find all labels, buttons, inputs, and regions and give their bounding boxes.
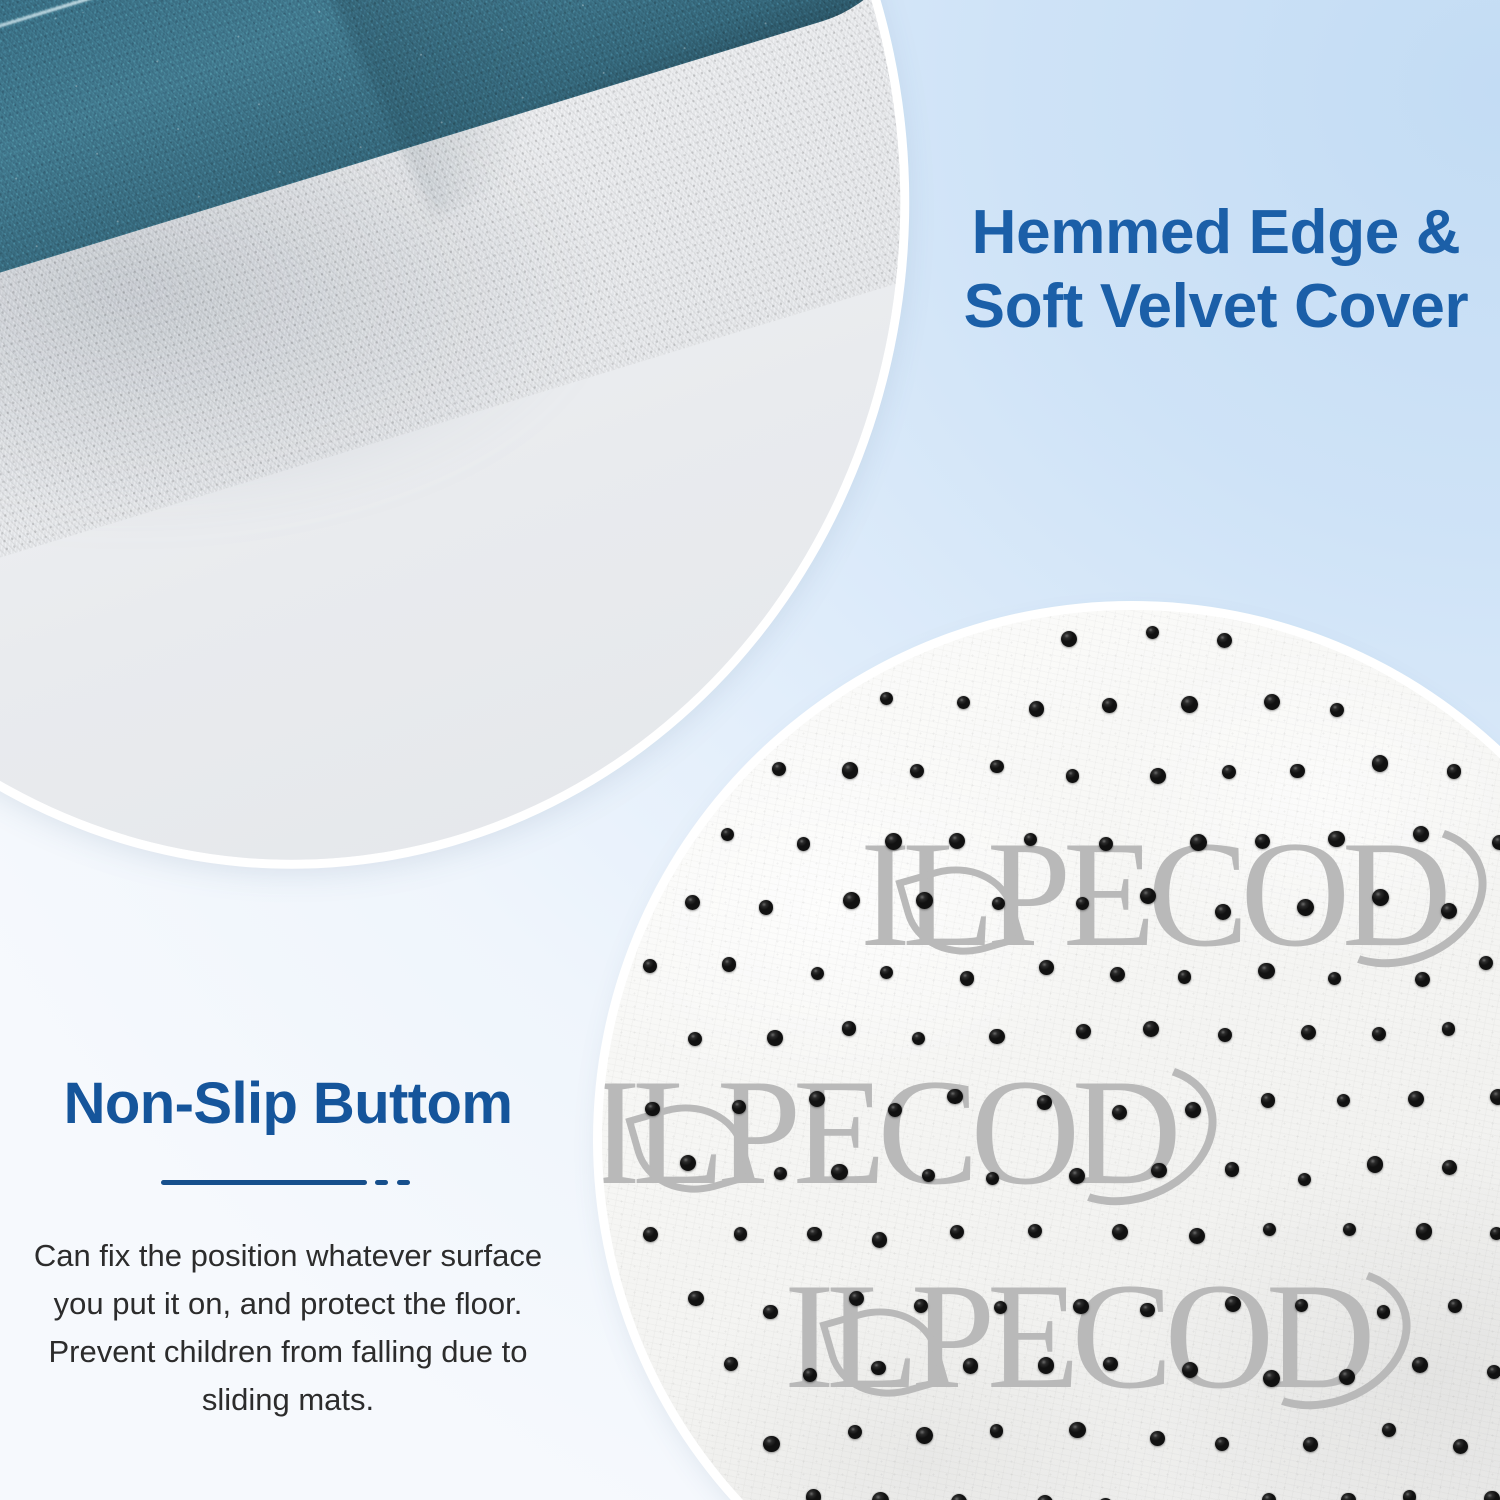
grip-dot: [1403, 1490, 1417, 1500]
grip-dot: [848, 1425, 862, 1439]
grip-dot: [763, 1305, 777, 1319]
grip-dot: [947, 1089, 962, 1104]
grip-dot: [1490, 1089, 1500, 1106]
grip-dot: [1140, 1303, 1155, 1318]
grip-dot: [1181, 696, 1198, 713]
grip-dot: [986, 1172, 999, 1185]
grip-dot: [992, 897, 1005, 910]
divider-bar: [161, 1180, 367, 1185]
grip-dot: [806, 1489, 822, 1500]
grip-dot: [831, 1164, 847, 1180]
grip-dot: [1217, 633, 1232, 648]
grip-dot: [1110, 967, 1125, 982]
grip-dot: [950, 1225, 964, 1239]
grip-dot: [951, 1494, 967, 1500]
grip-dot: [1413, 826, 1429, 842]
feature-block-non-slip: Non-Slip Buttom Can fix the position wha…: [8, 1072, 568, 1424]
grip-dot: [643, 1227, 658, 1242]
grip-dot: [1255, 834, 1271, 850]
grip-dot: [916, 892, 933, 909]
grip-dot: [1264, 694, 1280, 710]
grip-dot: [989, 1029, 1004, 1044]
grip-dot: [1415, 972, 1430, 987]
grip-dot: [1102, 698, 1117, 713]
grip-dot: [1061, 631, 1077, 647]
grip-dot: [1190, 834, 1207, 851]
grip-dot: [1487, 1365, 1500, 1379]
grip-dot: [872, 1232, 888, 1248]
heading-divider: [161, 1178, 415, 1186]
grip-dot: [1490, 1227, 1500, 1241]
grip-dot: [994, 1301, 1007, 1314]
grip-dot: [1039, 960, 1054, 975]
grip-dot: [1341, 1493, 1356, 1500]
grip-dot: [1263, 1370, 1280, 1387]
grip-dot: [1442, 1022, 1456, 1036]
grip-dot: [1416, 1223, 1433, 1240]
grip-dot: [1382, 1423, 1396, 1437]
grip-dot: [1290, 764, 1305, 779]
grip-dot: [916, 1427, 933, 1444]
grip-dot: [843, 892, 860, 909]
grip-dot: [990, 760, 1004, 774]
grip-dot: [721, 828, 734, 841]
grip-dot: [1261, 1093, 1276, 1108]
grip-dot: [1263, 1223, 1276, 1236]
grip-dot: [1150, 1431, 1165, 1446]
grip-dot: [1215, 1437, 1229, 1451]
grip-dot: [871, 1361, 885, 1375]
grip-dot: [1189, 1228, 1205, 1244]
grip-dot: [645, 1102, 659, 1116]
grip-dot: [1103, 1357, 1118, 1372]
grip-dot: [767, 1030, 783, 1046]
feature-heading-non-slip: Non-Slip Buttom: [8, 1072, 568, 1136]
grip-dot: [1076, 1024, 1091, 1039]
heading-line-1: Hemmed Edge &: [972, 198, 1461, 267]
grip-dot: [880, 692, 894, 706]
grip-dot: [734, 1227, 748, 1241]
grip-dot: [759, 900, 774, 915]
grip-dot: [1258, 963, 1275, 980]
grip-dot: [1112, 1105, 1127, 1120]
grip-dot: [1372, 755, 1389, 772]
grip-dot: [1484, 1491, 1500, 1500]
grip-dot: [842, 1021, 857, 1036]
grip-dot: [1037, 1095, 1052, 1110]
grip-dot: [1372, 1027, 1386, 1041]
grip-dot: [914, 1299, 928, 1313]
feature-heading-hemmed-edge: Hemmed Edge & Soft Velvet Cover: [946, 196, 1486, 345]
grip-dot: [1295, 1299, 1308, 1312]
grip-dot: [1442, 1160, 1457, 1175]
grip-dot: [1367, 1156, 1383, 1172]
grip-dot: [1343, 1223, 1357, 1237]
grip-dot: [888, 1103, 902, 1117]
grip-dot: [724, 1357, 738, 1371]
grip-dot: [1073, 1299, 1089, 1315]
grip-dot: [1298, 1173, 1311, 1186]
grip-dot: [722, 957, 737, 972]
grip-dot: [803, 1368, 818, 1383]
grip-dot: [872, 1492, 889, 1500]
grip-dot: [880, 966, 893, 979]
grip-dot: [1029, 701, 1045, 717]
grip-dot: [1328, 831, 1345, 848]
grip-dot: [1151, 1163, 1167, 1179]
grip-dot: [1297, 899, 1314, 916]
grip-dot: [957, 696, 970, 709]
grip-dot: [807, 1227, 822, 1242]
grip-dot: [1328, 972, 1341, 985]
grip-dot: [849, 1291, 864, 1306]
grip-dot: [1182, 1362, 1198, 1378]
grip-dot: [1066, 769, 1080, 783]
heading-line-2: Soft Velvet Cover: [946, 270, 1486, 344]
grip-dot: [688, 1032, 702, 1046]
grip-dot: [922, 1169, 936, 1183]
grip-dot: [1069, 1168, 1085, 1184]
grip-dot: [1218, 1028, 1232, 1042]
feature-body-non-slip: Can fix the position whatever surface yo…: [18, 1232, 558, 1424]
grip-dot: [842, 762, 859, 779]
grip-dot: [1037, 1495, 1053, 1500]
grip-dot: [990, 1424, 1004, 1438]
grip-dot: [732, 1100, 746, 1114]
grip-dot: [1225, 1162, 1239, 1176]
grip-dot: [774, 1167, 787, 1180]
grip-dot: [1140, 888, 1156, 904]
grip-dot: [1262, 1493, 1276, 1500]
grip-dot: [910, 764, 924, 778]
grip-dot: [1099, 837, 1113, 851]
grip-dot: [1492, 835, 1500, 850]
grip-dot: [811, 967, 825, 981]
grip-dot: [1028, 1224, 1042, 1238]
grip-dot: [885, 833, 902, 850]
grip-dot: [1038, 1357, 1054, 1373]
grip-dot: [949, 833, 965, 849]
grip-dot: [809, 1091, 826, 1108]
grip-dot: [1408, 1091, 1424, 1107]
grip-dot: [1146, 626, 1159, 639]
grip-dot: [1069, 1422, 1086, 1439]
grip-dot: [1448, 1299, 1462, 1313]
grip-dot: [1330, 703, 1344, 717]
grip-dot: [1301, 1025, 1316, 1040]
grip-dot: [1143, 1021, 1159, 1037]
grip-dot: [680, 1155, 696, 1171]
grip-dot: [1024, 833, 1037, 846]
grip-dot: [1337, 1094, 1350, 1107]
grip-dot: [1225, 1296, 1241, 1312]
grip-dot: [1372, 889, 1389, 906]
divider-dash-2: [397, 1180, 410, 1185]
grip-dot: [1076, 897, 1089, 910]
grip-dot: [688, 1291, 704, 1307]
grip-dot: [1150, 768, 1166, 784]
divider-dash-1: [375, 1180, 388, 1185]
grip-dot: [763, 1436, 779, 1452]
grip-dot: [685, 895, 700, 910]
photo-non-slip-bottom: ILPECOD ILPECOD ILPECOD: [602, 610, 1500, 1500]
grip-dot: [1441, 903, 1457, 919]
grip-dot: [772, 762, 786, 776]
grip-dot: [643, 959, 658, 974]
grip-dot: [960, 971, 975, 986]
grip-dot: [963, 1358, 979, 1374]
grip-dot: [1453, 1439, 1468, 1454]
grip-dot: [1222, 765, 1236, 779]
grip-dot: [1447, 764, 1462, 779]
grip-dot: [797, 837, 810, 850]
grip-dot: [1303, 1437, 1319, 1453]
rubber-grip-dots: [602, 610, 1500, 1500]
grip-dot: [912, 1032, 925, 1045]
grip-dot: [1215, 904, 1231, 920]
grip-dot: [1412, 1357, 1428, 1373]
grip-dot: [1339, 1369, 1355, 1385]
grip-dot: [1377, 1305, 1390, 1318]
grip-dot: [1479, 956, 1493, 970]
grip-dot: [1178, 970, 1191, 983]
grip-dot: [1112, 1224, 1128, 1240]
grip-dot: [1185, 1102, 1201, 1118]
promo-stage: ILPECOD ILPECOD ILPECOD Hemmed Edge & So…: [0, 0, 1500, 1500]
